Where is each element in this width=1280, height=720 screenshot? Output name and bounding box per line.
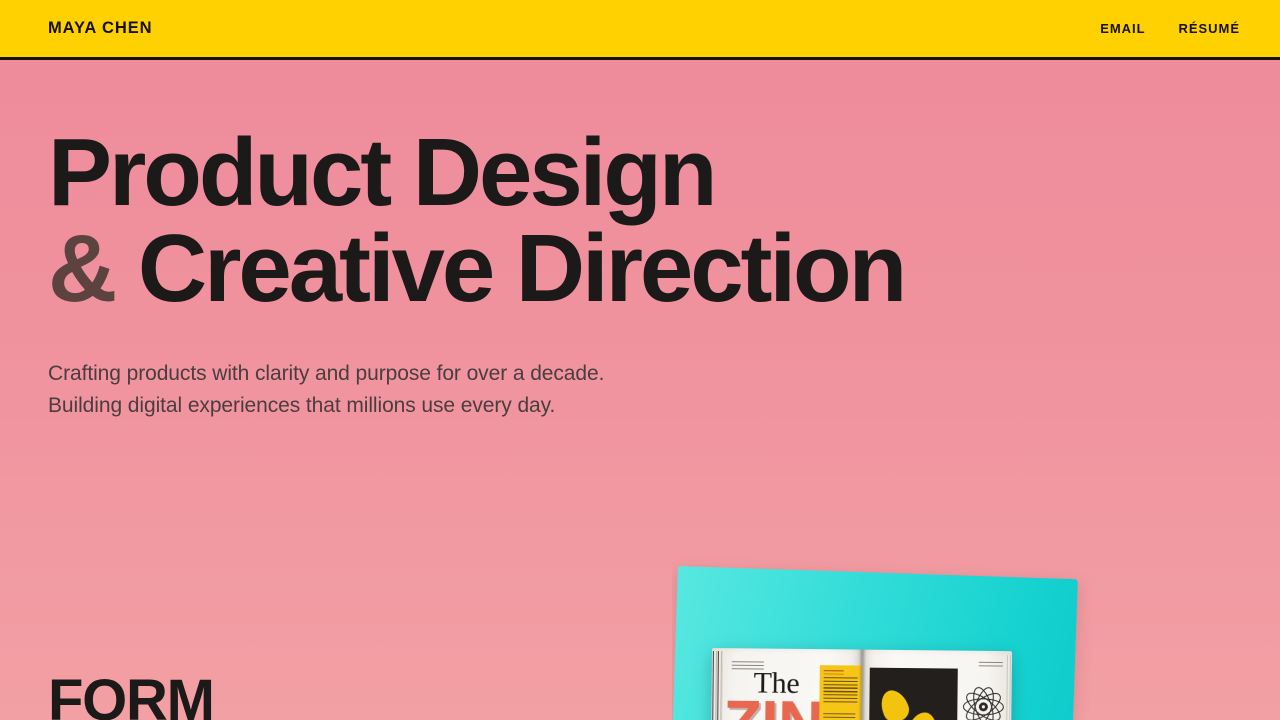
brand-logo[interactable]: MAYA CHEN — [48, 20, 152, 37]
hero-subtitle: Crafting products with clarity and purpo… — [48, 358, 1232, 422]
magazine-right-page — [860, 650, 1012, 720]
hero-subtitle-line-2: Building digital experiences that millio… — [48, 390, 1232, 422]
hero-title: Product Design & Creative Direction — [48, 125, 1232, 317]
atom-orbital-icon — [961, 685, 1005, 720]
page-root: MAYA CHEN EMAIL RÉSUMÉ Product Design & … — [0, 0, 1280, 720]
magazine-sidebar-text-2 — [823, 713, 855, 720]
nav-link-resume[interactable]: RÉSUMÉ — [1179, 22, 1240, 35]
hero-title-line-2-rest: Creative Direction — [114, 215, 904, 322]
magazine-page-edges — [710, 651, 723, 720]
magazine-folio-text — [979, 662, 1003, 669]
magazine-left-page: The ZIN — [710, 648, 862, 720]
section-label-form: FORM — [48, 672, 214, 720]
site-header: MAYA CHEN EMAIL RÉSUMÉ — [0, 0, 1280, 60]
hero-photo: The ZIN — [672, 556, 1092, 720]
main-nav: EMAIL RÉSUMÉ — [1100, 22, 1240, 35]
hero-ampersand: & — [48, 215, 114, 322]
magazine-sidebar-text-1 — [823, 677, 857, 703]
open-magazine: The ZIN — [710, 648, 1012, 720]
magazine-zin-word: ZIN — [723, 692, 823, 720]
hero-section: Product Design & Creative Direction Craf… — [0, 63, 1280, 422]
hero-subtitle-line-1: Crafting products with clarity and purpo… — [48, 358, 1232, 390]
magazine-right-page-edges — [1003, 655, 1012, 720]
pear-shape-icon — [876, 686, 912, 720]
magazine-black-photo-panel — [868, 668, 958, 720]
hero-title-line-2: & Creative Direction — [48, 221, 1232, 317]
magazine-sidebar-heading — [824, 670, 844, 674]
nav-link-email[interactable]: EMAIL — [1100, 22, 1145, 35]
hero-title-line-1: Product Design — [48, 125, 1232, 221]
magazine-yellow-sidebar — [818, 665, 862, 720]
magazine-spine-shadow — [857, 650, 866, 720]
